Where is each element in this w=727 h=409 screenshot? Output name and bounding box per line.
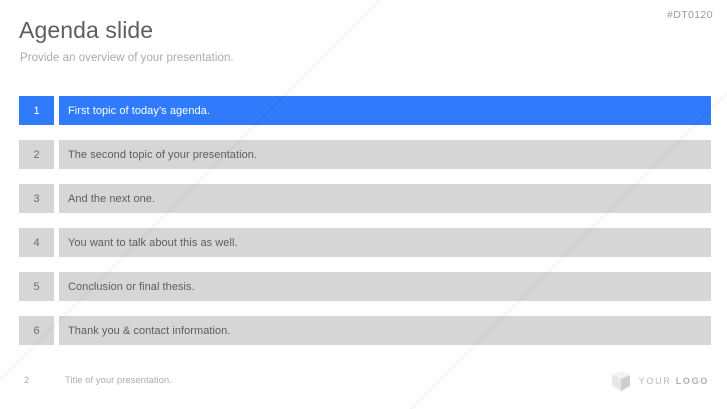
- agenda-row-6[interactable]: 6 Thank you & contact information.: [0, 316, 727, 345]
- agenda-row-text: You want to talk about this as well.: [59, 237, 238, 249]
- agenda-row-bar[interactable]: You want to talk about this as well.: [59, 228, 711, 257]
- agenda-list: 1 First topic of today’s agenda. 2 The s…: [0, 96, 727, 345]
- agenda-row-number: 1: [19, 96, 54, 125]
- page-subtitle: Provide an overview of your presentation…: [20, 52, 234, 64]
- page-title: Agenda slide: [19, 17, 153, 45]
- agenda-row-bar[interactable]: And the next one.: [59, 184, 711, 213]
- agenda-row-1[interactable]: 1 First topic of today’s agenda.: [0, 96, 727, 125]
- agenda-row-5[interactable]: 5 Conclusion or final thesis.: [0, 272, 727, 301]
- footer-page-number: 2: [24, 375, 29, 386]
- agenda-row-3[interactable]: 3 And the next one.: [0, 184, 727, 213]
- agenda-row-number: 2: [19, 140, 54, 169]
- logo-word-1: YOUR: [639, 376, 672, 386]
- logo: YOUR LOGO: [611, 370, 709, 392]
- agenda-row-text: And the next one.: [59, 193, 155, 205]
- footer: 2 Title of your presentation. YOUR LOGO: [0, 362, 727, 409]
- agenda-row-bar[interactable]: Thank you & contact information.: [59, 316, 711, 345]
- agenda-row-bar[interactable]: First topic of today’s agenda.: [59, 96, 711, 125]
- agenda-row-number: 4: [19, 228, 54, 257]
- agenda-row-number: 5: [19, 272, 54, 301]
- logo-word-2: LOGO: [676, 376, 709, 386]
- agenda-row-text: First topic of today’s agenda.: [59, 105, 210, 117]
- agenda-slide: #DT0120 Agenda slide Provide an overview…: [0, 0, 727, 409]
- logo-text: YOUR LOGO: [639, 376, 709, 386]
- footer-title: Title of your presentation.: [65, 375, 172, 386]
- agenda-row-number: 6: [19, 316, 54, 345]
- agenda-row-text: Conclusion or final thesis.: [59, 281, 195, 293]
- agenda-row-2[interactable]: 2 The second topic of your presentation.: [0, 140, 727, 169]
- agenda-row-text: The second topic of your presentation.: [59, 149, 257, 161]
- cube-logo-icon: [611, 370, 631, 392]
- document-code: #DT0120: [667, 9, 713, 21]
- agenda-row-bar[interactable]: The second topic of your presentation.: [59, 140, 711, 169]
- agenda-row-4[interactable]: 4 You want to talk about this as well.: [0, 228, 727, 257]
- agenda-row-number: 3: [19, 184, 54, 213]
- agenda-row-text: Thank you & contact information.: [59, 325, 230, 337]
- agenda-row-bar[interactable]: Conclusion or final thesis.: [59, 272, 711, 301]
